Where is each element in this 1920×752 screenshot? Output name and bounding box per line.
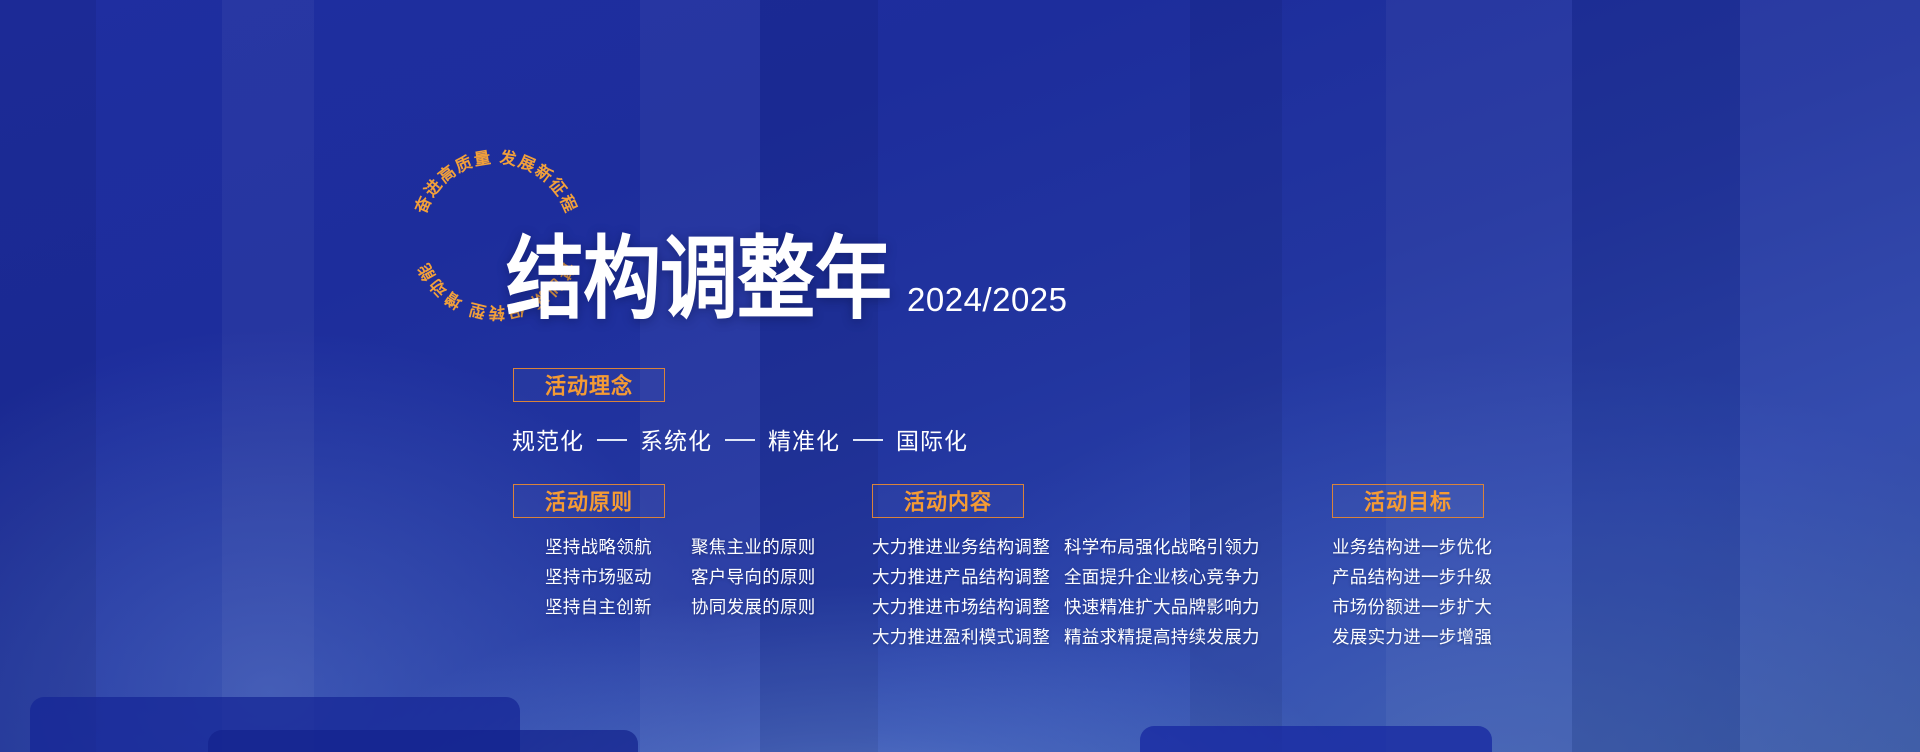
list-item-secondary: 协同发展的原则 <box>691 597 816 621</box>
list-item-primary: 发展实力进一步增强 <box>1332 627 1492 651</box>
badge-activity-principle-label: 活动原则 <box>545 485 633 517</box>
title-years: 2024/2025 <box>907 281 1068 319</box>
slogan-word: 规范化 <box>512 422 584 456</box>
slogan-word: 精准化 <box>768 422 840 456</box>
badge-activity-principle: 活动原则 <box>513 484 665 518</box>
idea-slogan-row: 规范化系统化精准化国际化 <box>512 422 968 456</box>
badge-activity-idea: 活动理念 <box>513 368 665 402</box>
slogan-separator <box>597 439 627 441</box>
list-item-secondary: 科学布局强化战略引领力 <box>1064 537 1260 561</box>
list-item: 大力推进业务结构调整科学布局强化战略引领力 <box>872 537 1260 561</box>
page-title: 结构调整年 <box>506 235 891 325</box>
list-item-primary: 坚持战略领航 <box>545 537 677 561</box>
list-item-primary: 大力推进盈利模式调整 <box>872 627 1050 651</box>
badge-activity-goal-label: 活动目标 <box>1364 485 1452 517</box>
list-item-secondary: 全面提升企业核心竞争力 <box>1064 567 1260 591</box>
list-item: 大力推进盈利模式调整精益求精提高持续发展力 <box>872 627 1260 651</box>
list-item: 坚持自主创新协同发展的原则 <box>545 597 816 621</box>
list-item-primary: 大力推进业务结构调整 <box>872 537 1050 561</box>
slogan-word: 系统化 <box>640 422 712 456</box>
badge-activity-content: 活动内容 <box>872 484 1024 518</box>
list-item-primary: 市场份额进一步扩大 <box>1332 597 1492 621</box>
list-item-secondary: 精益求精提高持续发展力 <box>1064 627 1260 651</box>
slogan-separator <box>725 439 755 441</box>
list-item-secondary: 快速精准扩大品牌影响力 <box>1064 597 1260 621</box>
title-row: 结构调整年 2024/2025 <box>506 247 1068 325</box>
badge-activity-idea-label: 活动理念 <box>545 369 633 401</box>
poster-canvas: 奋进高质量 发展新征程 谋创新 促转型 增动能 结构调整年 2024/2025 … <box>0 0 1920 752</box>
slogan-separator <box>853 439 883 441</box>
list-item-primary: 大力推进市场结构调整 <box>872 597 1050 621</box>
column-activity-content: 大力推进业务结构调整科学布局强化战略引领力大力推进产品结构调整全面提升企业核心竞… <box>872 537 1260 658</box>
list-item: 业务结构进一步优化 <box>1332 537 1492 561</box>
list-item: 产品结构进一步升级 <box>1332 567 1492 591</box>
list-item: 坚持市场驱动客户导向的原则 <box>545 567 816 591</box>
list-item: 大力推进市场结构调整快速精准扩大品牌影响力 <box>872 597 1260 621</box>
list-item: 发展实力进一步增强 <box>1332 627 1492 651</box>
list-item-primary: 坚持自主创新 <box>545 597 677 621</box>
list-item-primary: 业务结构进一步优化 <box>1332 537 1492 561</box>
list-item-primary: 产品结构进一步升级 <box>1332 567 1492 591</box>
list-item: 坚持战略领航聚焦主业的原则 <box>545 537 816 561</box>
emblem-top-arc-text: 奋进高质量 发展新征程 <box>410 147 581 218</box>
list-item-primary: 坚持市场驱动 <box>545 567 677 591</box>
list-item-secondary: 聚焦主业的原则 <box>691 537 816 561</box>
slogan-word: 国际化 <box>896 422 968 456</box>
list-item: 市场份额进一步扩大 <box>1332 597 1492 621</box>
badge-activity-content-label: 活动内容 <box>904 485 992 517</box>
list-item-secondary: 客户导向的原则 <box>691 567 816 591</box>
column-activity-goal: 业务结构进一步优化产品结构进一步升级市场份额进一步扩大发展实力进一步增强 <box>1332 537 1492 658</box>
badge-activity-goal: 活动目标 <box>1332 484 1484 518</box>
list-item: 大力推进产品结构调整全面提升企业核心竞争力 <box>872 567 1260 591</box>
list-item-primary: 大力推进产品结构调整 <box>872 567 1050 591</box>
column-activity-principle: 坚持战略领航聚焦主业的原则坚持市场驱动客户导向的原则坚持自主创新协同发展的原则 <box>545 537 816 627</box>
